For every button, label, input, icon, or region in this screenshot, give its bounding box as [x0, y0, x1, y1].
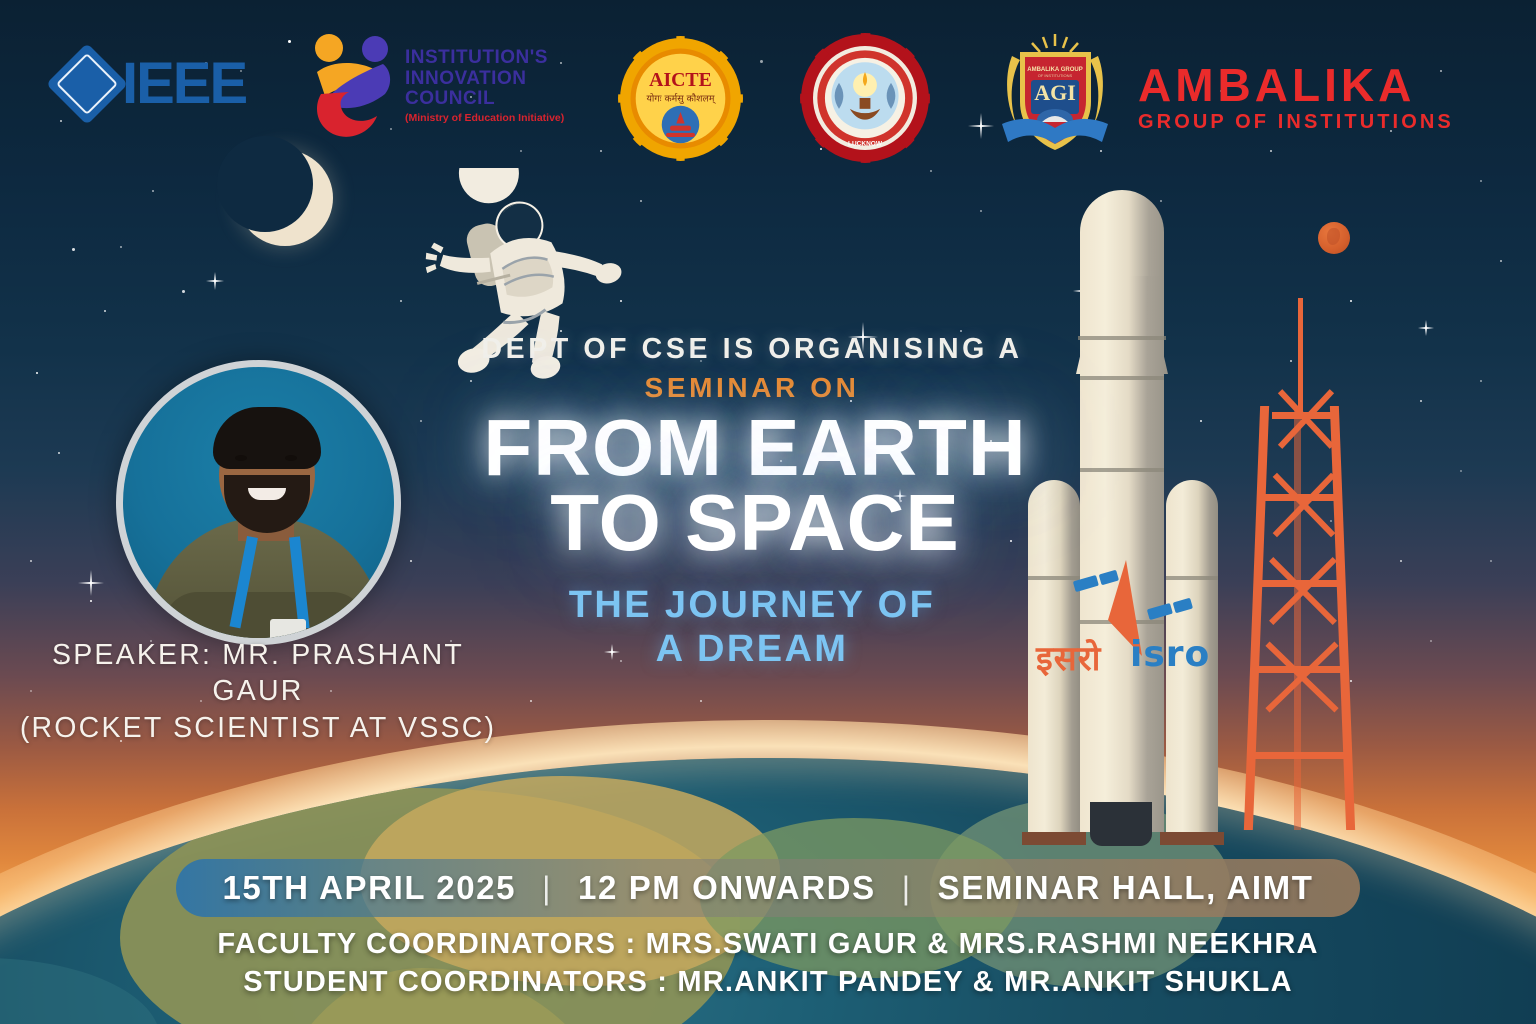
iic-logo: INSTITUTION'S INNOVATION COUNCIL (Minist…: [305, 32, 564, 140]
sparkle-star: [1418, 320, 1434, 336]
star: [72, 248, 75, 251]
speaker-eye-right: [285, 455, 297, 461]
subtitle-line-1: THE JOURNEY OF: [437, 583, 1067, 627]
title-line-2: TO SPACE: [420, 485, 1090, 560]
star: [36, 372, 38, 374]
aicte-devanagari: योगः कर्मसु कौशलम्: [647, 93, 717, 105]
agi-logo: AMBALIKA GROUP OF INSTITUTIONS AGI: [998, 32, 1113, 162]
speaker-eye-left: [235, 455, 247, 461]
speaker-hair: [213, 407, 321, 469]
rocket-ring-3: [1080, 468, 1164, 472]
star: [1350, 300, 1352, 302]
star: [182, 290, 185, 293]
isro-english-text: isro: [1130, 634, 1210, 675]
tower-rung-5: [1252, 752, 1350, 759]
event-poster: IEEE INSTITUTION'S INNOVATION COUNCIL (M…: [0, 0, 1536, 1024]
ambalika-brand: AMBALIKA GROUP OF INSTITUTIONS: [1138, 62, 1454, 132]
star: [1480, 380, 1482, 382]
event-details-bar: 15TH APRIL 2025 | 12 PM ONWARDS | SEMINA…: [176, 859, 1360, 917]
agi-sub-text: OF INSTITUTIONS: [1038, 73, 1073, 78]
ieee-logo-text: IEEE: [122, 55, 246, 113]
star: [1500, 260, 1502, 262]
iic-subtitle: (Ministry of Education Initiative): [405, 113, 564, 124]
star: [410, 560, 412, 562]
star: [530, 700, 532, 702]
subtitle-line-2: A DREAM: [437, 627, 1067, 671]
page-subtitle: THE JOURNEY OF A DREAM: [437, 583, 1067, 671]
star: [152, 190, 154, 192]
star: [980, 210, 982, 212]
aktu-logo: LUCKNOW: [800, 33, 930, 163]
star: [58, 452, 60, 454]
event-venue: SEMINAR HALL, AIMT: [938, 869, 1314, 907]
separator-1: |: [542, 870, 552, 907]
kicker-text: DEPT OF CSE IS ORGANISING A: [437, 333, 1067, 366]
star: [120, 246, 122, 248]
title-line-1: FROM EARTH: [420, 410, 1090, 485]
star: [1430, 640, 1432, 642]
star: [930, 170, 932, 172]
star: [1400, 560, 1402, 562]
agi-text: AGI: [1034, 80, 1076, 105]
separator-2: |: [902, 870, 912, 907]
tower-leg-left: [1244, 406, 1269, 830]
booster-right-tip: [1166, 480, 1218, 536]
iic-emblem-icon: [305, 32, 397, 140]
iic-line2: INNOVATION: [405, 69, 564, 90]
speaker-info: SPEAKER: MR. PRASHANT GAUR (ROCKET SCIEN…: [8, 637, 508, 746]
rocket-nozzle: [1090, 802, 1152, 846]
star: [104, 310, 106, 312]
star: [90, 600, 92, 602]
student-coordinators: STUDENT COORDINATORS : MR.ANKIT PANDEY &…: [0, 963, 1536, 1001]
tower-spire: [1298, 298, 1303, 418]
rocket-ring-2: [1080, 376, 1164, 380]
iic-logo-text: INSTITUTION'S INNOVATION COUNCIL (Minist…: [405, 48, 564, 124]
speaker-smile: [248, 488, 286, 500]
star: [960, 330, 962, 332]
star: [1460, 470, 1462, 472]
launch-pad-right: [1160, 832, 1224, 845]
ambalika-tagline: GROUP OF INSTITUTIONS: [1138, 112, 1454, 132]
ambalika-name: AMBALIKA: [1138, 62, 1454, 108]
star: [640, 200, 642, 202]
ieee-diamond-icon: [46, 43, 128, 125]
seminar-label: SEMINAR ON: [437, 372, 1067, 404]
star: [400, 300, 402, 302]
speaker-name: SPEAKER: MR. PRASHANT GAUR: [8, 637, 508, 710]
iic-line1: INSTITUTION'S: [405, 48, 564, 69]
tower-leg-center: [1294, 406, 1301, 830]
logo-row: IEEE INSTITUTION'S INNOVATION COUNCIL (M…: [0, 0, 1536, 170]
aicte-text: AICTE: [649, 69, 712, 91]
star: [1480, 180, 1482, 182]
sparkle-star: [206, 272, 224, 290]
speaker-photo: [116, 360, 401, 645]
star: [700, 700, 702, 702]
star: [30, 560, 32, 562]
aktu-city: LUCKNOW: [848, 141, 883, 148]
ieee-logo: IEEE: [58, 55, 246, 113]
launch-tower: [1246, 308, 1354, 828]
speaker-role: (ROCKET SCIENTIST AT VSSC): [8, 710, 508, 746]
event-time: 12 PM ONWARDS: [578, 869, 876, 907]
event-date: 15TH APRIL 2025: [222, 869, 516, 907]
star: [1420, 400, 1422, 402]
sparkle-star: [78, 570, 104, 596]
star: [1490, 560, 1492, 562]
launch-pad-left: [1022, 832, 1086, 845]
faculty-coordinators: FACULTY COORDINATORS : MRS.SWATI GAUR & …: [0, 925, 1536, 963]
rocket-core-stage: [1080, 276, 1164, 832]
coordinators-block: FACULTY COORDINATORS : MRS.SWATI GAUR & …: [0, 925, 1536, 1002]
iic-line3: COUNCIL: [405, 89, 564, 110]
rocket-ring-1: [1078, 336, 1166, 340]
page-title: FROM EARTH TO SPACE: [420, 410, 1090, 560]
aicte-logo: AICTE योगः कर्मसु कौशलम्: [618, 36, 743, 161]
